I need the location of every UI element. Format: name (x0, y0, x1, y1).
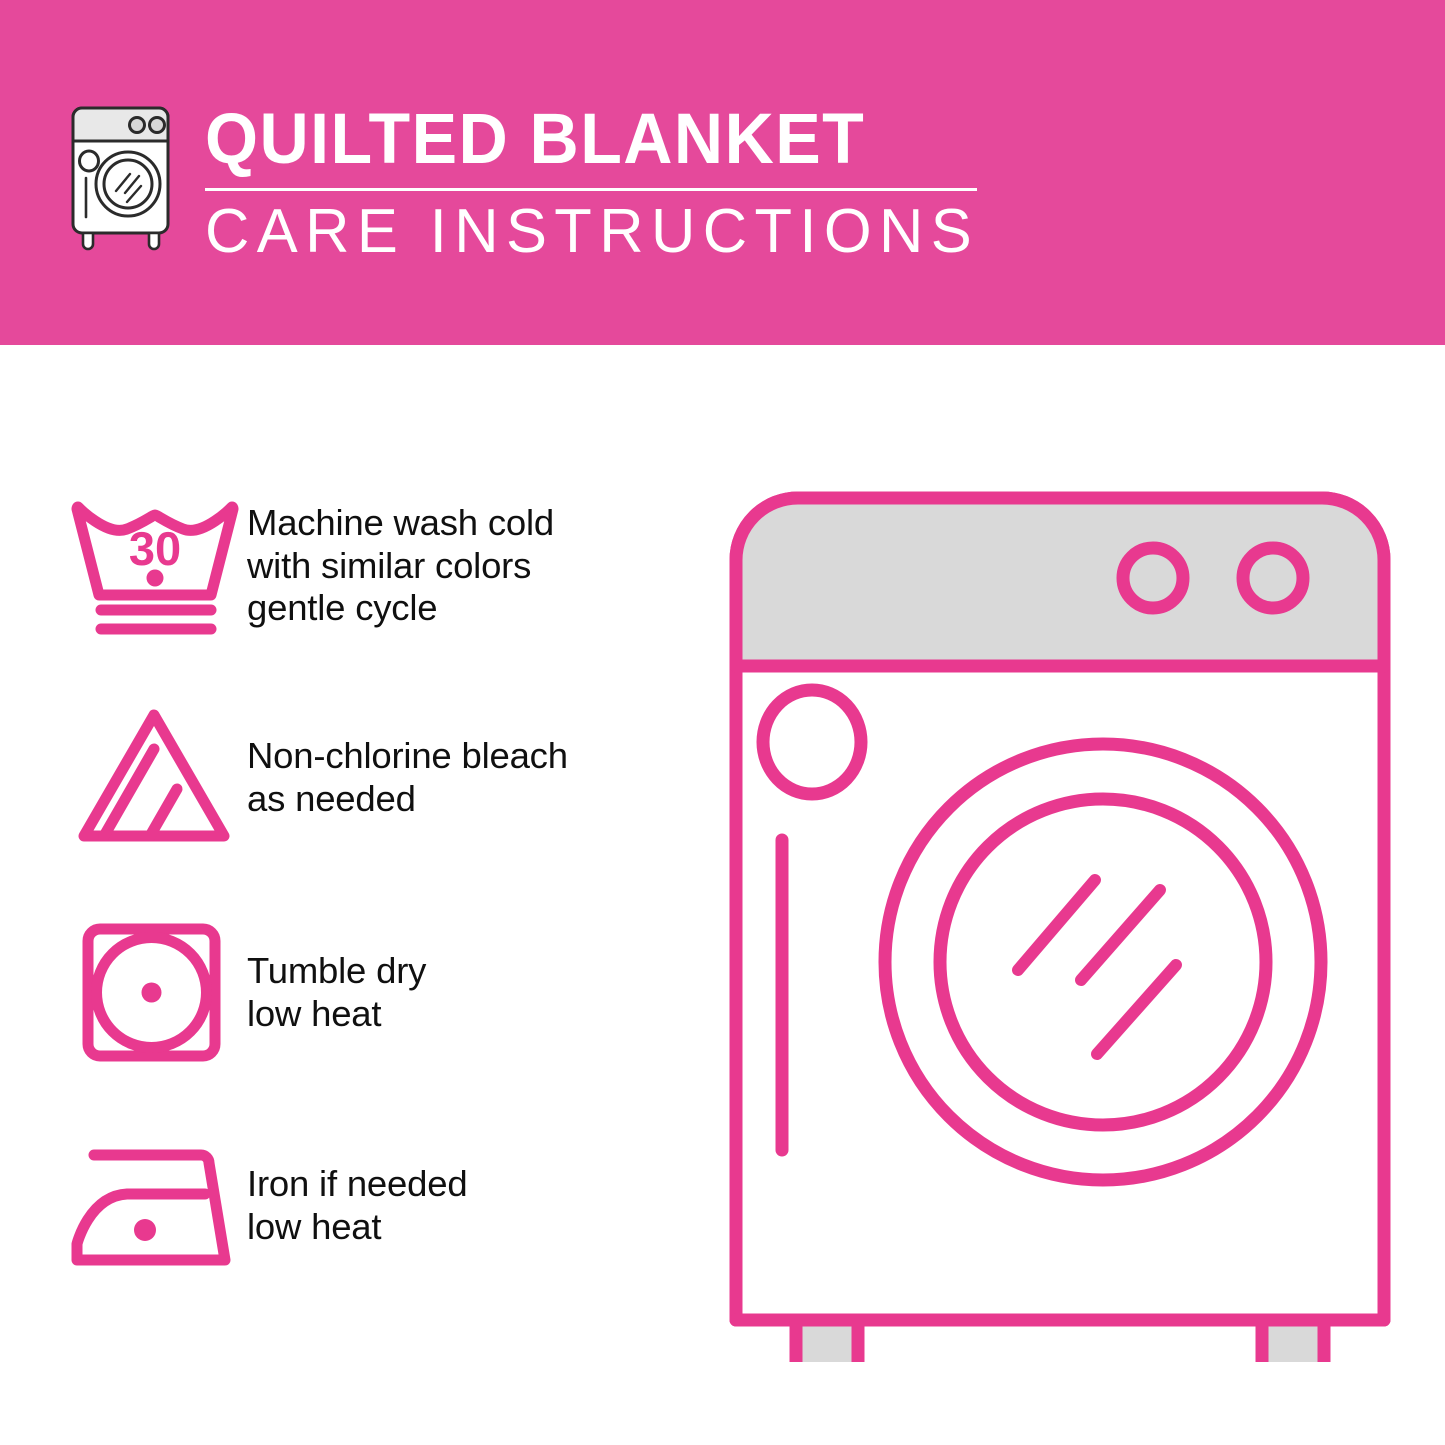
wash-tub-icon: 30 (62, 480, 247, 645)
knob-right (1243, 548, 1303, 608)
iron-icon (62, 1125, 247, 1290)
care-label-wash-line-1: Machine wash cold (247, 502, 682, 545)
detergent-drawer (763, 690, 861, 794)
page-subtitle: CARE INSTRUCTIONS (205, 200, 987, 264)
care-label-wash: Machine wash cold with similar colors ge… (247, 480, 682, 630)
care-label-wash-line-2: with similar colors (247, 545, 682, 588)
header-band: QUILTED BLANKET CARE INSTRUCTIONS (0, 0, 1445, 345)
care-label-bleach-line-2: as needed (247, 778, 682, 821)
care-label-iron: Iron if needed low heat (247, 1125, 682, 1248)
care-row-bleach: Non-chlorine bleach as needed (62, 695, 682, 910)
care-row-tumble-dry: Tumble dry low heat (62, 910, 682, 1125)
care-label-wash-line-3: gentle cycle (247, 587, 682, 630)
care-label-iron-line-1: Iron if needed (247, 1163, 682, 1206)
page-title: QUILTED BLANKET (205, 104, 963, 176)
care-label-tumble-dry-line-2: low heat (247, 993, 682, 1036)
care-label-bleach-line-1: Non-chlorine bleach (247, 735, 682, 778)
care-row-wash: 30 Machine wash cold with similar colors… (62, 480, 682, 695)
care-label-tumble-dry: Tumble dry low heat (247, 910, 682, 1035)
care-instructions-list: 30 Machine wash cold with similar colors… (62, 480, 682, 1340)
washing-machine-icon (58, 98, 190, 253)
knob-left (1123, 548, 1183, 608)
care-label-bleach: Non-chlorine bleach as needed (247, 695, 682, 820)
tumble-dry-icon (62, 910, 247, 1075)
large-washing-machine-illustration (700, 462, 1420, 1362)
title-divider (205, 188, 977, 191)
care-label-tumble-dry-line-1: Tumble dry (247, 950, 682, 993)
header-text-block: QUILTED BLANKET CARE INSTRUCTIONS (205, 104, 995, 265)
care-row-iron: Iron if needed low heat (62, 1125, 682, 1340)
bleach-triangle-icon (62, 695, 247, 860)
wash-temperature-label: 30 (128, 522, 180, 575)
care-label-iron-line-2: low heat (247, 1206, 682, 1249)
